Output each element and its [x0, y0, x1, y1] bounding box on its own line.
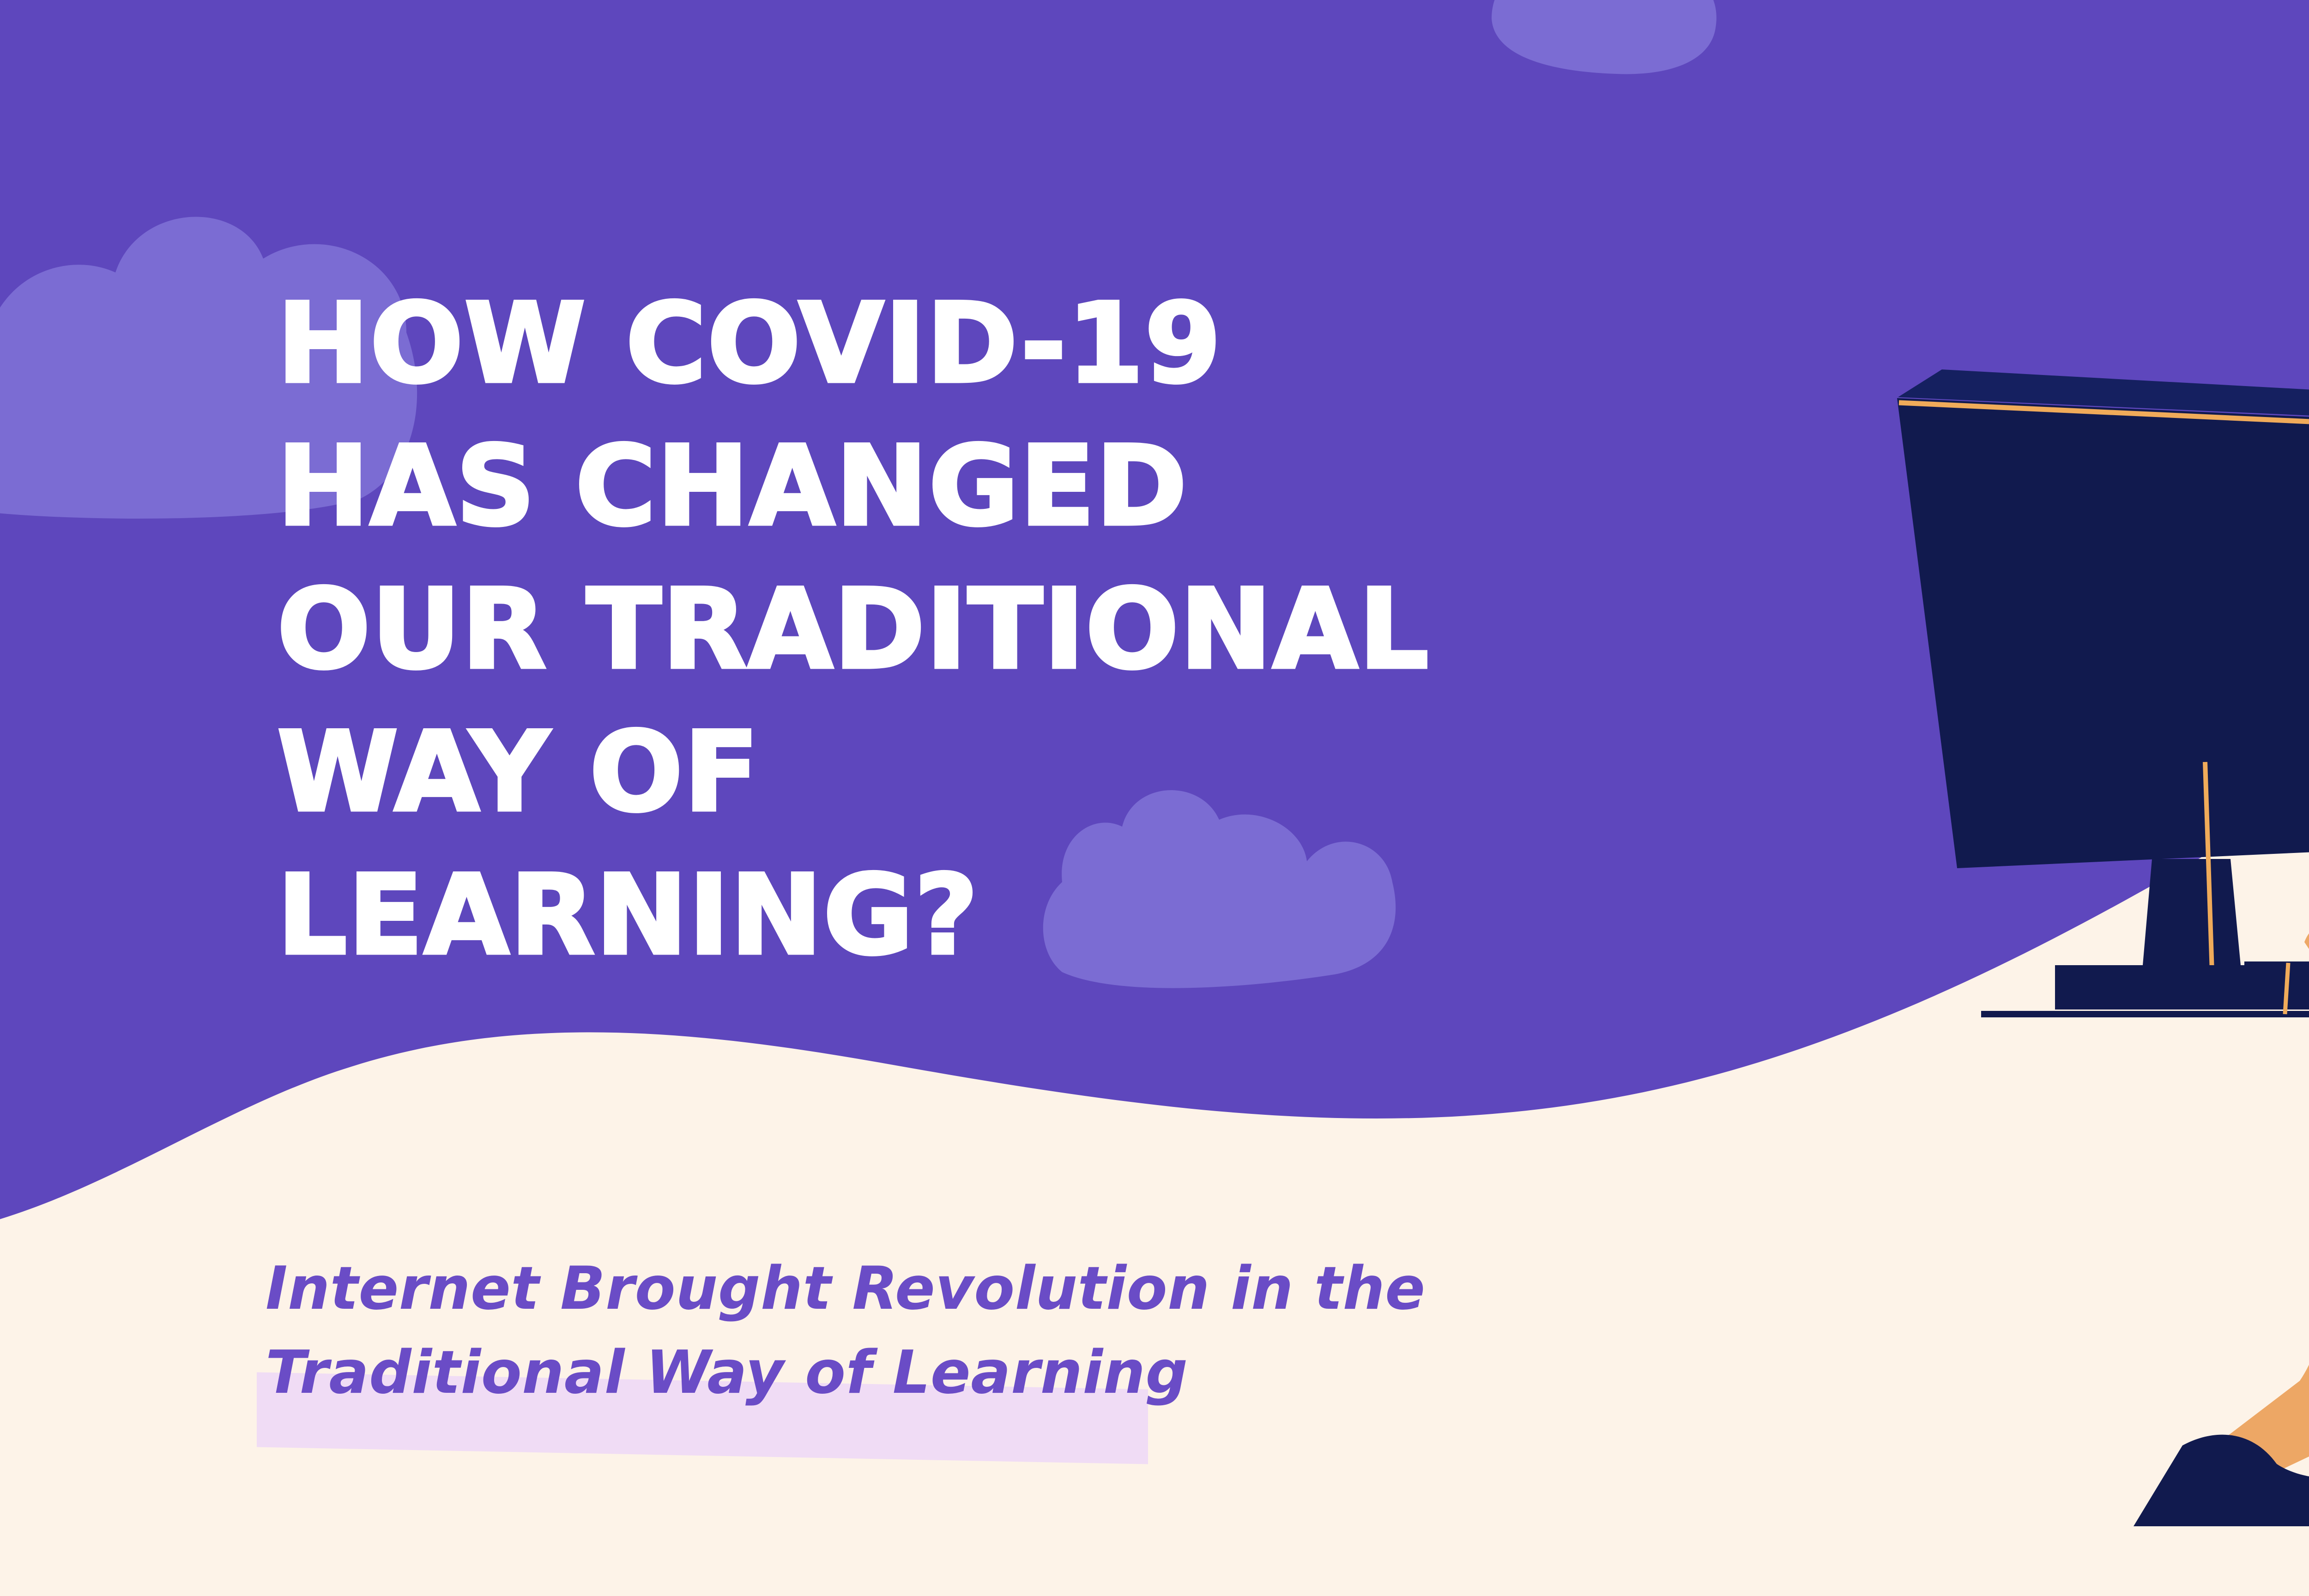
headline-line-4: way of	[277, 701, 1662, 844]
subtitle-line-2: Traditional Way of Learning	[266, 1331, 1651, 1415]
desktop-monitor-icon	[1897, 369, 2309, 1014]
headline-line-3: our Traditional	[277, 558, 1662, 701]
subtitle-line-1: Internet Brought Revolution in the	[266, 1247, 1651, 1331]
headline-line-1: How Covid-19	[277, 272, 1662, 415]
page-title: How Covid-19 has changed our Traditional…	[277, 272, 1662, 987]
blog-banner: How Covid-19 has changed our Traditional…	[0, 0, 2309, 1596]
page-subtitle: Internet Brought Revolution in the Tradi…	[266, 1247, 1651, 1415]
headline-line-2: has changed	[277, 415, 1662, 558]
headline-line-5: learning?	[277, 844, 1662, 987]
person-left-leg	[2212, 968, 2309, 1492]
